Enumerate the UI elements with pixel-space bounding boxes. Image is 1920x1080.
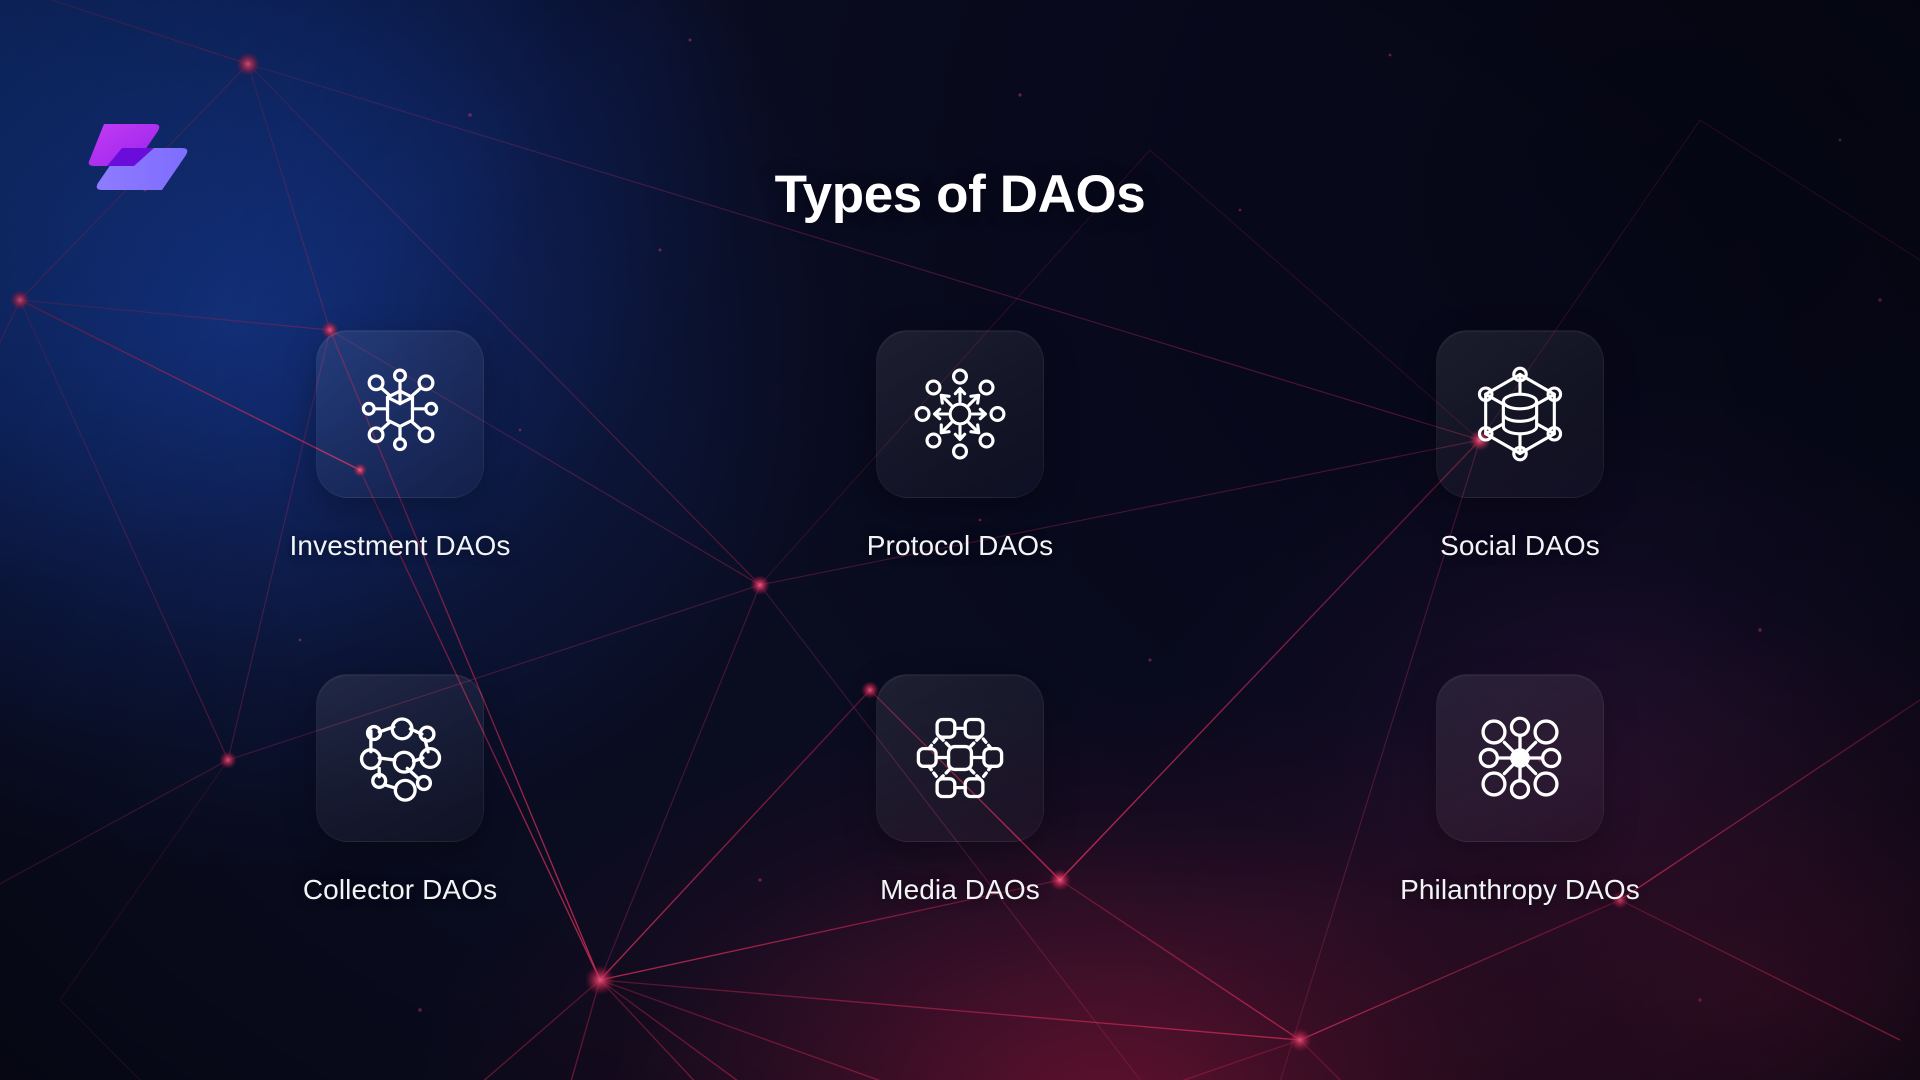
icon-tile-investment[interactable] (316, 330, 484, 498)
icon-tile-philanthropy[interactable] (1436, 674, 1604, 842)
page-title: Types of DAOs (0, 164, 1920, 225)
icon-tile-collector[interactable] (316, 674, 484, 842)
card-collector[interactable]: Collector DAOs (120, 674, 680, 906)
dao-types-grid: Investment DAOs (120, 330, 1800, 906)
radial-arrows-hub-icon (908, 362, 1012, 466)
icon-tile-social[interactable] (1436, 330, 1604, 498)
card-label-protocol: Protocol DAOs (867, 530, 1053, 562)
slide-canvas: Types of DAOs Investmen (0, 0, 1920, 1080)
card-philanthropy[interactable]: Philanthropy DAOs (1240, 674, 1800, 906)
icon-tile-media[interactable] (876, 674, 1044, 842)
card-media[interactable]: Media DAOs (680, 674, 1240, 906)
card-label-philanthropy: Philanthropy DAOs (1400, 874, 1640, 906)
icon-tile-protocol[interactable] (876, 330, 1044, 498)
hexagon-database-icon (1468, 362, 1572, 466)
molecule-cluster-icon (348, 706, 452, 810)
square-node-grid-icon (908, 706, 1012, 810)
card-label-investment: Investment DAOs (290, 530, 511, 562)
hub-spoke-circles-icon (1468, 706, 1572, 810)
card-label-social: Social DAOs (1440, 530, 1600, 562)
card-investment[interactable]: Investment DAOs (120, 330, 680, 562)
card-label-collector: Collector DAOs (303, 874, 497, 906)
card-social[interactable]: Social DAOs (1240, 330, 1800, 562)
card-label-media: Media DAOs (880, 874, 1040, 906)
cube-network-icon (348, 362, 452, 466)
card-protocol[interactable]: Protocol DAOs (680, 330, 1240, 562)
